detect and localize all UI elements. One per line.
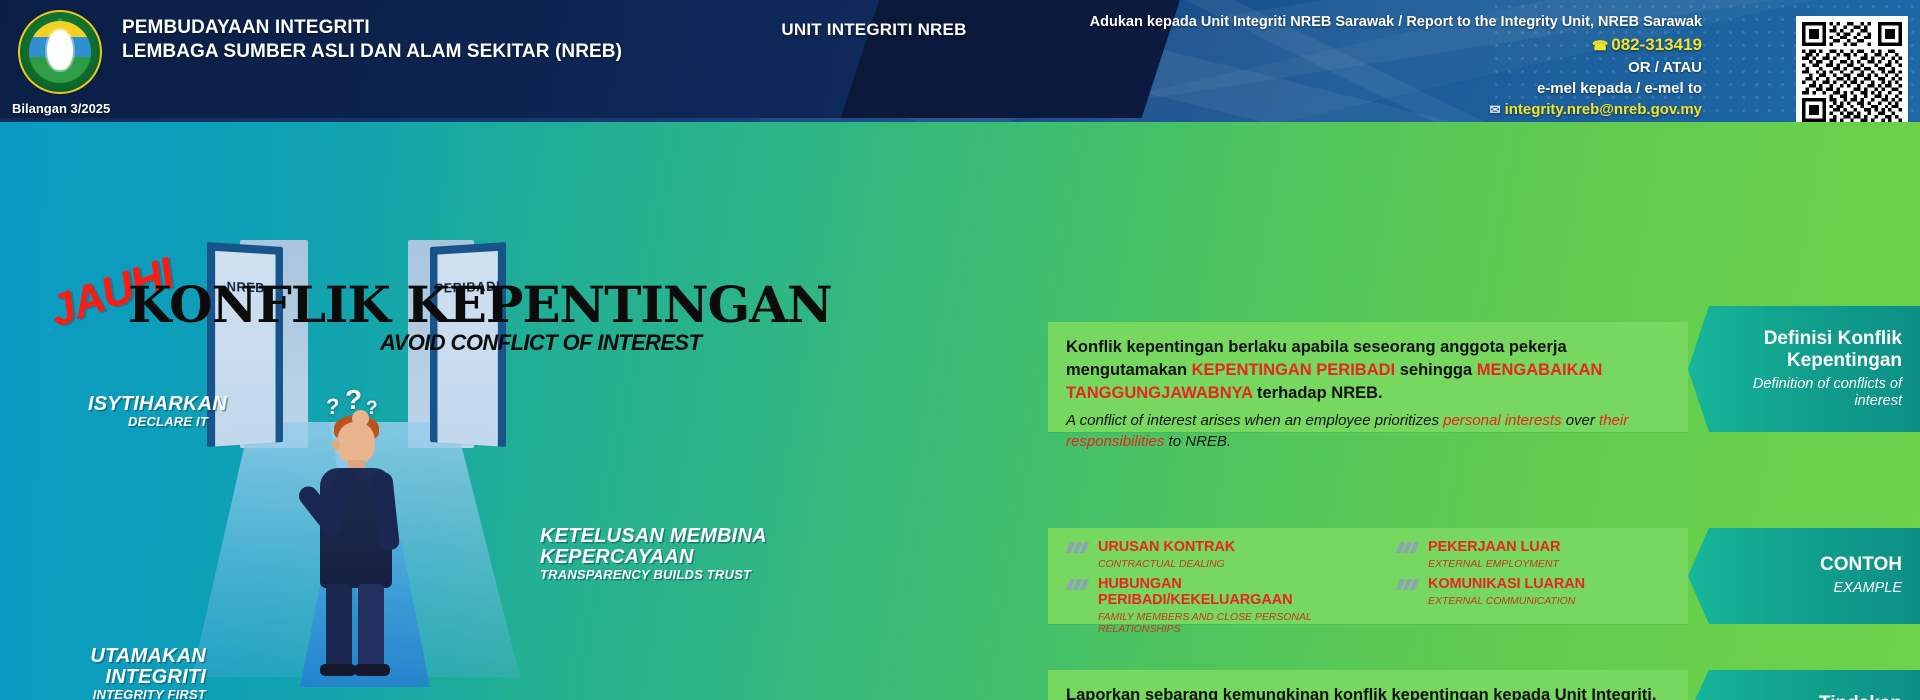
- example-label-en: EXTERNAL COMMUNICATION: [1428, 595, 1698, 607]
- examples-grid: URUSAN KONTRAK CONTRACTUAL DEALING HUBUN…: [1068, 540, 1668, 620]
- issue-number: Bilangan 3/2025: [12, 101, 110, 116]
- tab-definition-ms: Definisi Konflik Kepentingan: [1734, 328, 1902, 372]
- example-label-ms: HUBUNGAN PERIBADI/KEKELUARGAAN: [1098, 577, 1368, 609]
- phone-number: 082-313419: [1611, 35, 1702, 54]
- nreb-logo-icon: [18, 10, 102, 94]
- header-unit-title: UNIT INTEGRITI NREB: [694, 20, 1054, 40]
- tab-example-en: EXAMPLE: [1734, 580, 1902, 597]
- infographic-poster: PEMBUDAYAAN INTEGRITI LEMBAGA SUMBER ASL…: [0, 0, 1920, 700]
- page-title: KONFLIK KEPENTINGAN: [128, 280, 832, 330]
- examples-column-left: URUSAN KONTRAK CONTRACTUAL DEALING HUBUN…: [1068, 540, 1368, 642]
- example-label-ms: URUSAN KONTRAK: [1098, 540, 1368, 556]
- caption-declare-ms: ISYTIHARKAN: [88, 394, 208, 415]
- qr-code-svg: [1802, 22, 1902, 122]
- page-subtitle: AVOID CONFLICT OF INTEREST: [380, 330, 701, 356]
- definition-text-en: A conflict of interest arises when an em…: [1066, 411, 1670, 452]
- action-text-ms: Laporkan sebarang kemungkinan konflik ke…: [1066, 684, 1670, 700]
- definition-panel: Konflik kepentingan berlaku apabila sese…: [1048, 322, 1688, 432]
- chevron-bullet-icon: [1398, 579, 1420, 590]
- tab-action-ms: Tindakan: [1734, 693, 1902, 700]
- tab-definition-en: Definition of conflicts of interest: [1734, 376, 1902, 411]
- examples-column-right: PEKERJAAN LUAR EXTERNAL EMPLOYMENT KOMUN…: [1398, 540, 1698, 614]
- header-org-title: PEMBUDAYAAN INTEGRITI LEMBAGA SUMBER ASL…: [122, 16, 622, 63]
- example-item: HUBUNGAN PERIBADI/KEKELUARGAAN FAMILY ME…: [1068, 577, 1368, 635]
- highlighted-phrase: KEPENTINGAN PERIBADI: [1192, 361, 1396, 379]
- example-label-ms: PEKERJAAN LUAR: [1428, 540, 1698, 556]
- body-text-run: A conflict of interest arises when an em…: [1066, 412, 1443, 429]
- org-line-1: PEMBUDAYAAN INTEGRITI: [122, 16, 622, 40]
- example-label-en: EXTERNAL EMPLOYMENT: [1428, 558, 1698, 570]
- caption-integrity-first: UTAMAKAN INTEGRITI INTEGRITY FIRST: [26, 646, 206, 700]
- caption-integrity-ms: UTAMAKAN INTEGRITI: [26, 646, 206, 688]
- phone-icon: ☎: [1592, 38, 1608, 53]
- body-text-run: over: [1562, 412, 1600, 429]
- example-label-en: FAMILY MEMBERS AND CLOSE PERSONAL RELATI…: [1098, 611, 1368, 635]
- caption-transparency: KETELUSAN MEMBINA KEPERCAYAAN TRANSPAREN…: [540, 526, 770, 581]
- email-label: e-mel kepada / e-mel to: [1002, 78, 1702, 99]
- body-text-run: sehingga: [1395, 361, 1477, 379]
- highlighted-phrase: personal interests: [1443, 412, 1561, 429]
- caption-transparency-ms: KETELUSAN MEMBINA KEPERCAYAAN: [540, 526, 770, 568]
- or-atau-label: OR / ATAU: [1002, 57, 1702, 78]
- chevron-bullet-icon: [1068, 579, 1090, 590]
- chevron-bullet-icon: [1068, 542, 1090, 553]
- email-address: integrity.nreb@nreb.gov.my: [1505, 101, 1702, 118]
- body-text-run: to NREB.: [1164, 433, 1231, 450]
- example-item: PEKERJAAN LUAR EXTERNAL EMPLOYMENT: [1398, 540, 1698, 570]
- chevron-bullet-icon: [1398, 542, 1420, 553]
- choice-illustration: NREB PERIBADI ? ? ?: [0, 122, 860, 700]
- caption-integrity-en: INTEGRITY FIRST: [26, 688, 206, 700]
- person-illustration: [296, 402, 426, 687]
- tab-action: Tindakan Action step: [1688, 670, 1920, 700]
- body-text-run: terhadap NREB.: [1252, 384, 1382, 402]
- example-item: URUSAN KONTRAK CONTRACTUAL DEALING: [1068, 540, 1368, 570]
- definition-text-ms: Konflik kepentingan berlaku apabila sese…: [1066, 336, 1670, 404]
- contact-phone[interactable]: ☎082-313419: [1002, 33, 1702, 57]
- header-contact-block: Adukan kepada Unit Integriti NREB Sarawa…: [1002, 12, 1702, 140]
- org-line-2: LEMBAGA SUMBER ASLI DAN ALAM SEKITAR (NR…: [122, 40, 622, 64]
- action-panel: Laporkan sebarang kemungkinan konflik ke…: [1048, 670, 1688, 700]
- caption-declare: ISYTIHARKAN DECLARE IT: [88, 394, 208, 428]
- tab-example-ms: CONTOH: [1734, 554, 1902, 576]
- poster-body: NREB PERIBADI ? ? ?: [0, 122, 1920, 700]
- caption-declare-en: DECLARE IT: [88, 415, 208, 429]
- envelope-icon: ✉: [1490, 102, 1501, 117]
- example-label-ms: KOMUNIKASI LUARAN: [1428, 577, 1698, 593]
- example-label-en: CONTRACTUAL DEALING: [1098, 558, 1368, 570]
- caption-transparency-en: TRANSPARENCY BUILDS TRUST: [540, 568, 770, 582]
- door-nreb: NREB: [207, 242, 283, 447]
- qr-code-icon[interactable]: [1796, 16, 1908, 128]
- tab-definition: Definisi Konflik Kepentingan Definition …: [1688, 306, 1920, 432]
- report-line: Adukan kepada Unit Integriti NREB Sarawa…: [1002, 12, 1702, 33]
- example-item: KOMUNIKASI LUARAN EXTERNAL COMMUNICATION: [1398, 577, 1698, 607]
- tab-example: CONTOH EXAMPLE: [1688, 528, 1920, 624]
- contact-email[interactable]: ✉integrity.nreb@nreb.gov.my: [1002, 99, 1702, 120]
